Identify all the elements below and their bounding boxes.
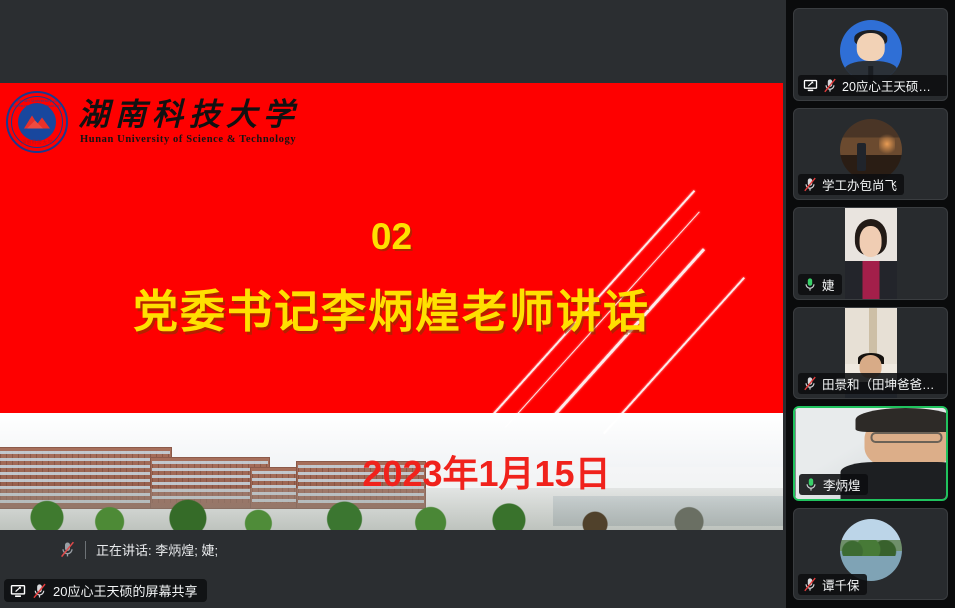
mic-muted-icon (803, 376, 817, 391)
participant-name: 婕 (822, 275, 835, 294)
avatar (840, 20, 902, 82)
zoom-meeting-window: Hunan University of Science and Technolo… (0, 0, 955, 608)
speaking-indicator: 正在讲话: 李炳煌; 婕; (60, 540, 218, 559)
participant-tile-active-speaker[interactable]: 李炳煌 (793, 406, 948, 501)
participant-name: 田景和（田坤爸爸@传... (822, 374, 941, 393)
status-divider (85, 541, 86, 559)
participant-name-chip: 20应心王天硕的屏幕... (798, 75, 948, 96)
mic-muted-icon (803, 177, 817, 192)
screen-share-icon (803, 79, 818, 92)
mic-muted-icon (60, 541, 75, 558)
speaking-text: 正在讲话: 李炳煌; 婕; (96, 540, 218, 559)
avatar (840, 519, 902, 581)
university-name-cn: 湖南科技大学 (78, 99, 300, 130)
participant-name-chip: 李炳煌 (799, 474, 868, 495)
video-stream (845, 208, 897, 299)
participant-name-chip: 学工办包尚飞 (798, 174, 904, 195)
slide-date: 2023年1月15日 (0, 445, 783, 497)
participant-tile[interactable]: 婕 (793, 207, 948, 300)
mic-active-icon (803, 277, 817, 292)
presentation-slide: Hunan University of Science and Technolo… (0, 83, 783, 530)
participant-filmstrip[interactable]: 20应心王天硕的屏幕... 学工办包尚飞 (786, 0, 955, 608)
mic-muted-icon (32, 583, 47, 599)
participant-tile[interactable]: 学工办包尚飞 (793, 108, 948, 201)
participant-name: 学工办包尚飞 (822, 175, 897, 194)
shared-screen-region[interactable]: Hunan University of Science and Technolo… (0, 0, 786, 608)
screen-share-icon (10, 584, 26, 598)
participant-tile[interactable]: 谭千保 (793, 508, 948, 601)
university-logo: Hunan University of Science and Technolo… (6, 91, 300, 153)
participant-name: 20应心王天硕的屏幕... (842, 76, 941, 95)
participant-tile[interactable]: 20应心王天硕的屏幕... (793, 8, 948, 101)
mic-active-icon (804, 477, 818, 492)
screen-share-label: 20应心王天硕的屏幕共享 (53, 581, 197, 600)
participant-name: 李炳煌 (823, 475, 861, 494)
seal-text-bottom: 湖南科技大学 (8, 139, 66, 146)
avatar (840, 119, 902, 181)
university-seal-icon: Hunan University of Science and Technolo… (6, 91, 68, 153)
participant-name: 谭千保 (822, 575, 860, 594)
mic-muted-icon (823, 78, 837, 93)
slide-title: 党委书记李炳煌老师讲话 (0, 275, 783, 340)
participant-name-chip: 谭千保 (798, 574, 867, 595)
participant-name-chip: 田景和（田坤爸爸@传... (798, 373, 948, 394)
mic-muted-icon (803, 577, 817, 592)
participant-name-chip: 婕 (798, 274, 842, 295)
participant-tile[interactable]: 田景和（田坤爸爸@传... (793, 307, 948, 400)
university-name-en: Hunan University of Science & Technology (78, 134, 300, 145)
slide-section-number: 02 (0, 216, 783, 258)
screen-share-chip[interactable]: 20应心王天硕的屏幕共享 (4, 579, 207, 602)
